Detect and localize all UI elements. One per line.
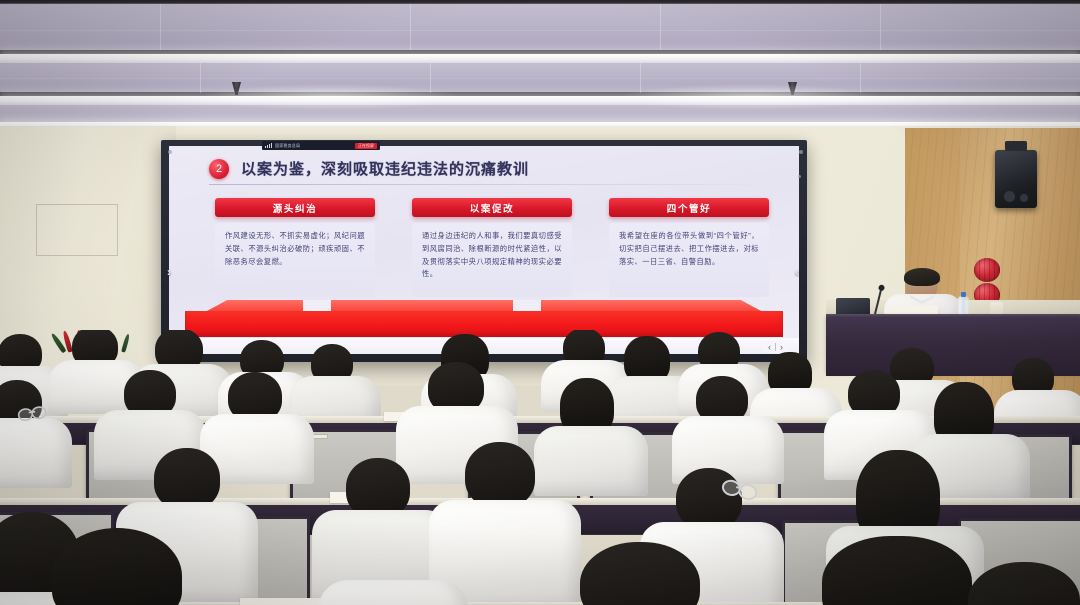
slide-card: 源头纠治 作风建设无形、不抓实易虚化；风纪问题关联、不源头纠治必破防；顽疾顽固、… [215, 198, 375, 297]
screen-status-bar: 国家税务总局 正在投屏 [262, 141, 380, 150]
display-screen[interactable]: 2 以案为鉴，深刻吸取违纪违法的沉痛教训 源头纠治 作风建设无形、不抓实易虚化；… [169, 146, 799, 354]
conference-room-scene: 国家税务总局 正在投屏 2 以案为鉴，深刻吸取违纪违法的沉痛教训 源头纠治 作风… [0, 0, 1080, 605]
slide-number-badge: 2 [209, 159, 229, 179]
wall-panel-outline [36, 204, 118, 256]
audience-area [0, 330, 1080, 605]
display-bezel-button-left[interactable]: › [167, 265, 171, 279]
ceiling [0, 0, 1080, 140]
card-body: 我希望在座的各位带头做到“四个管好”，切实把自己摆进去、把工作摆进去，对标落实、… [609, 223, 769, 297]
display-indicator-dot [168, 150, 172, 154]
slide-card-group: 源头纠治 作风建设无形、不抓实易虚化；风纪问题关联、不源头纠治必破防；顽疾顽固、… [215, 198, 769, 297]
slide-card: 四个管好 我希望在座的各位带头做到“四个管好”，切实把自己摆进去、把工作摆进去，… [609, 198, 769, 297]
status-bar-app-text: 国家税务总局 [275, 143, 300, 149]
display-indicator-dot [798, 175, 801, 178]
status-bar-badge: 正在投屏 [355, 143, 377, 149]
card-heading: 源头纠治 [215, 198, 375, 217]
card-body: 作风建设无形、不抓实易虚化；风纪问题关联、不源头纠治必破防；顽疾顽固、不除恶务尽… [215, 223, 375, 297]
card-heading: 以案促改 [412, 198, 572, 217]
presentation-slide: 2 以案为鉴，深刻吸取违纪违法的沉痛教训 源头纠治 作风建设无形、不抓实易虚化；… [169, 146, 799, 354]
card-body: 通过身边违纪的人和事，我们要真切感受到风腐同治、除根断源的时代紧迫性，以及贯彻落… [412, 223, 572, 297]
display-indicator-dot [799, 150, 803, 154]
wall-display[interactable]: 2 以案为鉴，深刻吸取违纪违法的沉痛教训 源头纠治 作风建设无形、不抓实易虚化；… [161, 140, 807, 362]
signal-icon [265, 143, 272, 148]
slide-card: 以案促改 通过身边违纪的人和事，我们要真切感受到风腐同治、除根断源的时代紧迫性，… [412, 198, 572, 297]
slide-title: 以案为鉴，深刻吸取违纪违法的沉痛教训 [241, 158, 529, 179]
title-divider [209, 184, 771, 185]
desk-paper [240, 598, 320, 605]
presenter-hair [904, 268, 940, 286]
wall-speaker-icon [995, 150, 1037, 208]
slide-header: 2 以案为鉴，深刻吸取违纪违法的沉痛教训 [209, 158, 779, 179]
display-bezel-button-right[interactable]: ‹ [795, 265, 799, 279]
card-heading: 四个管好 [609, 198, 769, 217]
chair-tag [312, 434, 328, 439]
